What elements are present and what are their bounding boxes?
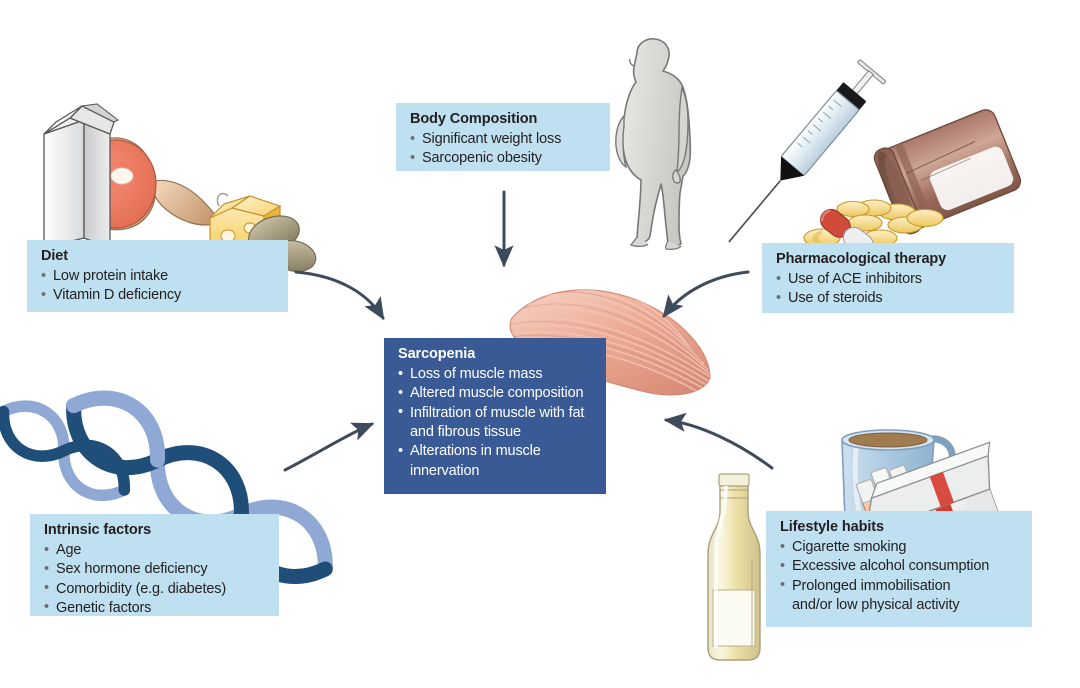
pharmacological-therapy-item: Use of steroids	[776, 289, 1014, 308]
pharmacological-therapy-box: Pharmacological therapy Use of ACE inhib…	[762, 243, 1014, 313]
body-composition-box: Body Composition Significant weight loss…	[396, 103, 610, 171]
diet-list: Low protein intake Vitamin D deficiency	[41, 267, 288, 306]
diet-item: Low protein intake	[41, 267, 288, 286]
body-composition-item: Significant weight loss	[410, 130, 610, 149]
sarcopenia-item: Altered muscle composition	[398, 384, 606, 403]
arrow-diet-to-sarcopenia	[296, 272, 383, 318]
lifestyle-habits-item: Prolonged immobilisation	[780, 577, 1032, 596]
intrinsic-factors-item: Comorbidity (e.g. diabetes)	[44, 580, 279, 599]
pharmacological-therapy-item: Use of ACE inhibitors	[776, 270, 1014, 289]
body-composition-item: Sarcopenic obesity	[410, 149, 610, 168]
diet-illustration	[22, 96, 312, 256]
pharmacological-therapy-title: Pharmacological therapy	[776, 250, 1014, 269]
diet-title: Diet	[41, 247, 288, 266]
lifestyle-habits-box: Lifestyle habits Cigarette smoking Exces…	[766, 511, 1032, 627]
lifestyle-habits-list: Cigarette smoking Excessive alcohol cons…	[780, 538, 1032, 615]
body-composition-list: Significant weight loss Sarcopenic obesi…	[410, 130, 610, 169]
sarcopenia-item-continuation: innervation	[398, 462, 606, 481]
diagram-canvas: Diet Low protein intake Vitamin D defici…	[0, 0, 1080, 688]
lifestyle-habits-item-continuation: and/or low physical activity	[780, 596, 1032, 615]
sarcopenia-item: Loss of muscle mass	[398, 365, 606, 384]
lifestyle-habits-title: Lifestyle habits	[780, 518, 1032, 537]
lifestyle-habits-item: Excessive alcohol consumption	[780, 557, 1032, 576]
body-composition-title: Body Composition	[410, 110, 610, 129]
diet-box: Diet Low protein intake Vitamin D defici…	[27, 240, 288, 312]
intrinsic-factors-title: Intrinsic factors	[44, 521, 279, 540]
diet-item: Vitamin D deficiency	[41, 286, 288, 305]
sarcopenia-item: Infiltration of muscle with fat	[398, 404, 606, 423]
pharmacological-therapy-list: Use of ACE inhibitors Use of steroids	[776, 270, 1014, 309]
sarcopenia-title: Sarcopenia	[398, 345, 606, 364]
sarcopenia-item-continuation: and fibrous tissue	[398, 423, 606, 442]
intrinsic-factors-list: Age Sex hormone deficiency Comorbidity (…	[44, 541, 279, 618]
intrinsic-factors-item: Genetic factors	[44, 599, 279, 618]
sarcopenia-item: Alterations in muscle	[398, 442, 606, 461]
pharmacological-therapy-illustration	[722, 42, 1032, 252]
intrinsic-factors-item: Sex hormone deficiency	[44, 560, 279, 579]
intrinsic-factors-item: Age	[44, 541, 279, 560]
sarcopenia-box: Sarcopenia Loss of muscle mass Altered m…	[384, 338, 606, 494]
sarcopenia-list: Loss of muscle mass Altered muscle compo…	[398, 365, 606, 481]
lifestyle-habits-item: Cigarette smoking	[780, 538, 1032, 557]
intrinsic-factors-box: Intrinsic factors Age Sex hormone defici…	[30, 514, 279, 616]
